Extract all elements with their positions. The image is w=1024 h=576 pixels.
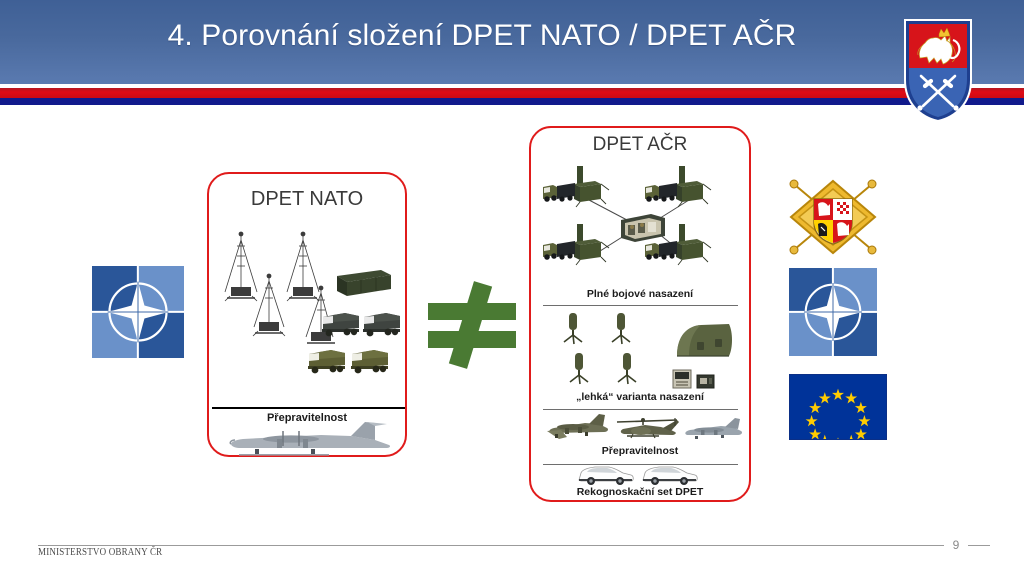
nato-emblem-icon-right bbox=[789, 268, 877, 356]
nato-emblem-icon bbox=[92, 266, 184, 358]
eu-flag-icon bbox=[789, 374, 887, 440]
label-prepravitelnost-acr: Přepravitelnost bbox=[531, 445, 749, 457]
transport-aircraft-2 bbox=[683, 418, 745, 446]
czech-mod-shield-icon bbox=[903, 18, 973, 123]
recon-pickup-2 bbox=[639, 462, 701, 488]
dpet-acr-panel: DPET AČR bbox=[529, 126, 751, 502]
section-divider-1 bbox=[543, 305, 738, 306]
truck-olive-1 bbox=[305, 344, 349, 376]
not-equal-icon bbox=[428, 286, 516, 362]
stripe-red bbox=[0, 88, 1024, 98]
mast-unit-group bbox=[221, 226, 339, 361]
slide-canvas: 4. Porovnání složení DPET NATO / DPET AČ… bbox=[0, 0, 1024, 576]
full-deployment-diagram bbox=[537, 158, 745, 286]
helicopter bbox=[615, 416, 681, 446]
field-tent bbox=[667, 318, 739, 366]
transport-aircraft-1 bbox=[545, 413, 611, 445]
dpet-nato-title: DPET NATO bbox=[209, 188, 405, 211]
equipment-cases bbox=[671, 366, 723, 390]
section-divider-2 bbox=[543, 409, 738, 410]
label-plne-bojove-nasazeni: Plné bojové nasazení bbox=[531, 288, 749, 300]
page-title: 4. Porovnání složení DPET NATO / DPET AČ… bbox=[0, 19, 1024, 53]
footer-rule-end bbox=[968, 545, 990, 546]
transport-aircraft bbox=[225, 426, 397, 460]
stripe-blue bbox=[0, 98, 1024, 105]
label-lehka-varianta: „lehká“ varianta nasazení bbox=[531, 391, 749, 403]
truck-gray-2 bbox=[360, 307, 404, 339]
dpet-acr-title: DPET AČR bbox=[531, 134, 749, 156]
page-number: 9 bbox=[948, 538, 964, 552]
footer-rule bbox=[38, 545, 944, 546]
section-divider bbox=[212, 407, 405, 409]
czech-army-emblem-icon bbox=[785, 175, 881, 259]
container-shelter bbox=[331, 266, 393, 300]
label-prepravitelnost: Přepravitelnost bbox=[209, 412, 405, 424]
light-variant-antennas bbox=[559, 311, 665, 389]
dpet-nato-panel: DPET NATO bbox=[207, 172, 407, 457]
truck-olive-2 bbox=[348, 344, 392, 376]
recon-pickup-1 bbox=[575, 462, 637, 488]
footer-organization: MINISTERSTVO OBRANY ČR bbox=[38, 547, 162, 558]
truck-gray-1 bbox=[319, 307, 363, 339]
label-rekognoskacni-set: Rekognoskační set DPET bbox=[531, 486, 749, 498]
